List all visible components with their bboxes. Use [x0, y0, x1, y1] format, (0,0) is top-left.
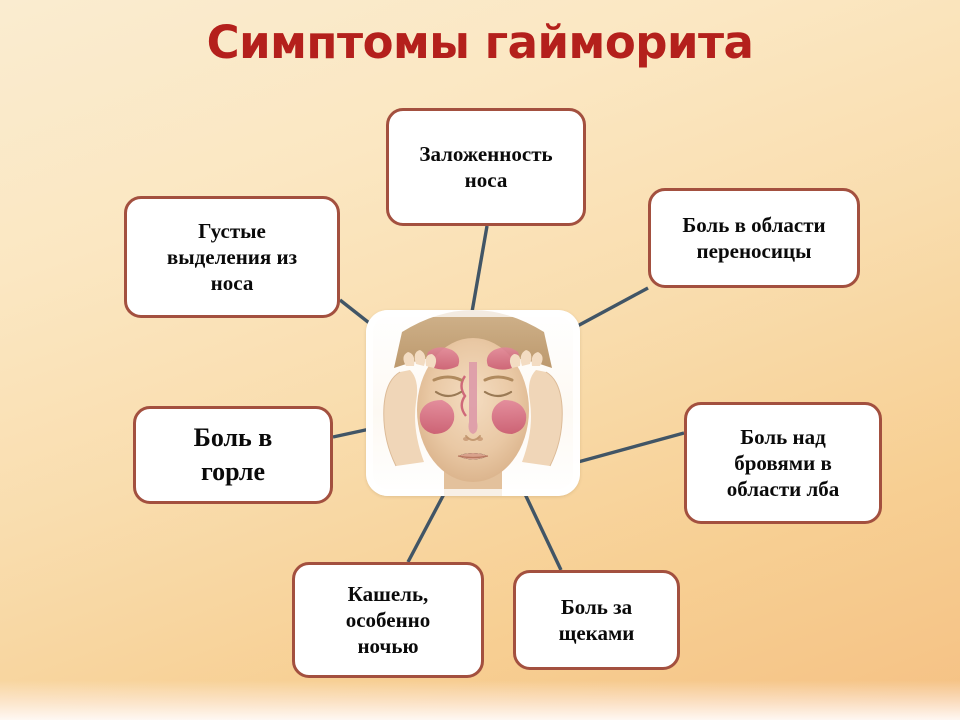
symptom-box-thick-discharge[interactable]: Густые выделения из носа — [124, 196, 340, 318]
symptom-box-throat-pain[interactable]: Боль в горле — [133, 406, 333, 504]
connector-forehead-pain — [578, 433, 684, 462]
symptom-box-nasal-congestion[interactable]: Заложенность носа — [386, 108, 586, 226]
connector-night-cough — [408, 494, 444, 562]
symptom-box-bridge-pain[interactable]: Боль в области переносицы — [648, 188, 860, 288]
symptom-box-night-cough[interactable]: Кашель, особенно ночью — [292, 562, 484, 678]
sinus-anatomy-illustration — [366, 310, 580, 496]
connector-cheek-pain — [525, 494, 561, 570]
connector-bridge-pain — [570, 288, 648, 330]
connector-throat-pain — [333, 429, 370, 437]
center-photo — [366, 310, 580, 496]
connector-nasal-congestion — [472, 226, 487, 312]
infographic-poster: Симптомы гайморита — [0, 0, 960, 720]
symptom-box-forehead-pain[interactable]: Боль над бровями в области лба — [684, 402, 882, 524]
symptom-box-cheek-pain[interactable]: Боль за щеками — [513, 570, 680, 670]
